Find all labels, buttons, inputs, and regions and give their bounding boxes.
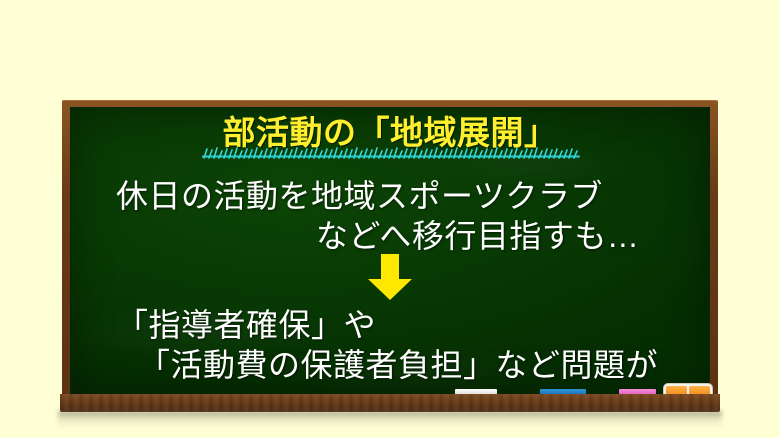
chalk-ledge: [60, 394, 720, 412]
ledge-shadow: [58, 411, 722, 429]
body-line-2: などへ移行目指すも…: [316, 211, 639, 257]
slide-canvas: 部活動の「地域展開」 休日の活動を地域スポーツクラブ などへ移行目指すも… 「指…: [0, 0, 780, 438]
down-arrow-icon: [364, 253, 416, 301]
body-line-4: 「活動費の保護者負担」など問題が: [138, 340, 658, 386]
title-underline-scribble: [202, 146, 580, 159]
